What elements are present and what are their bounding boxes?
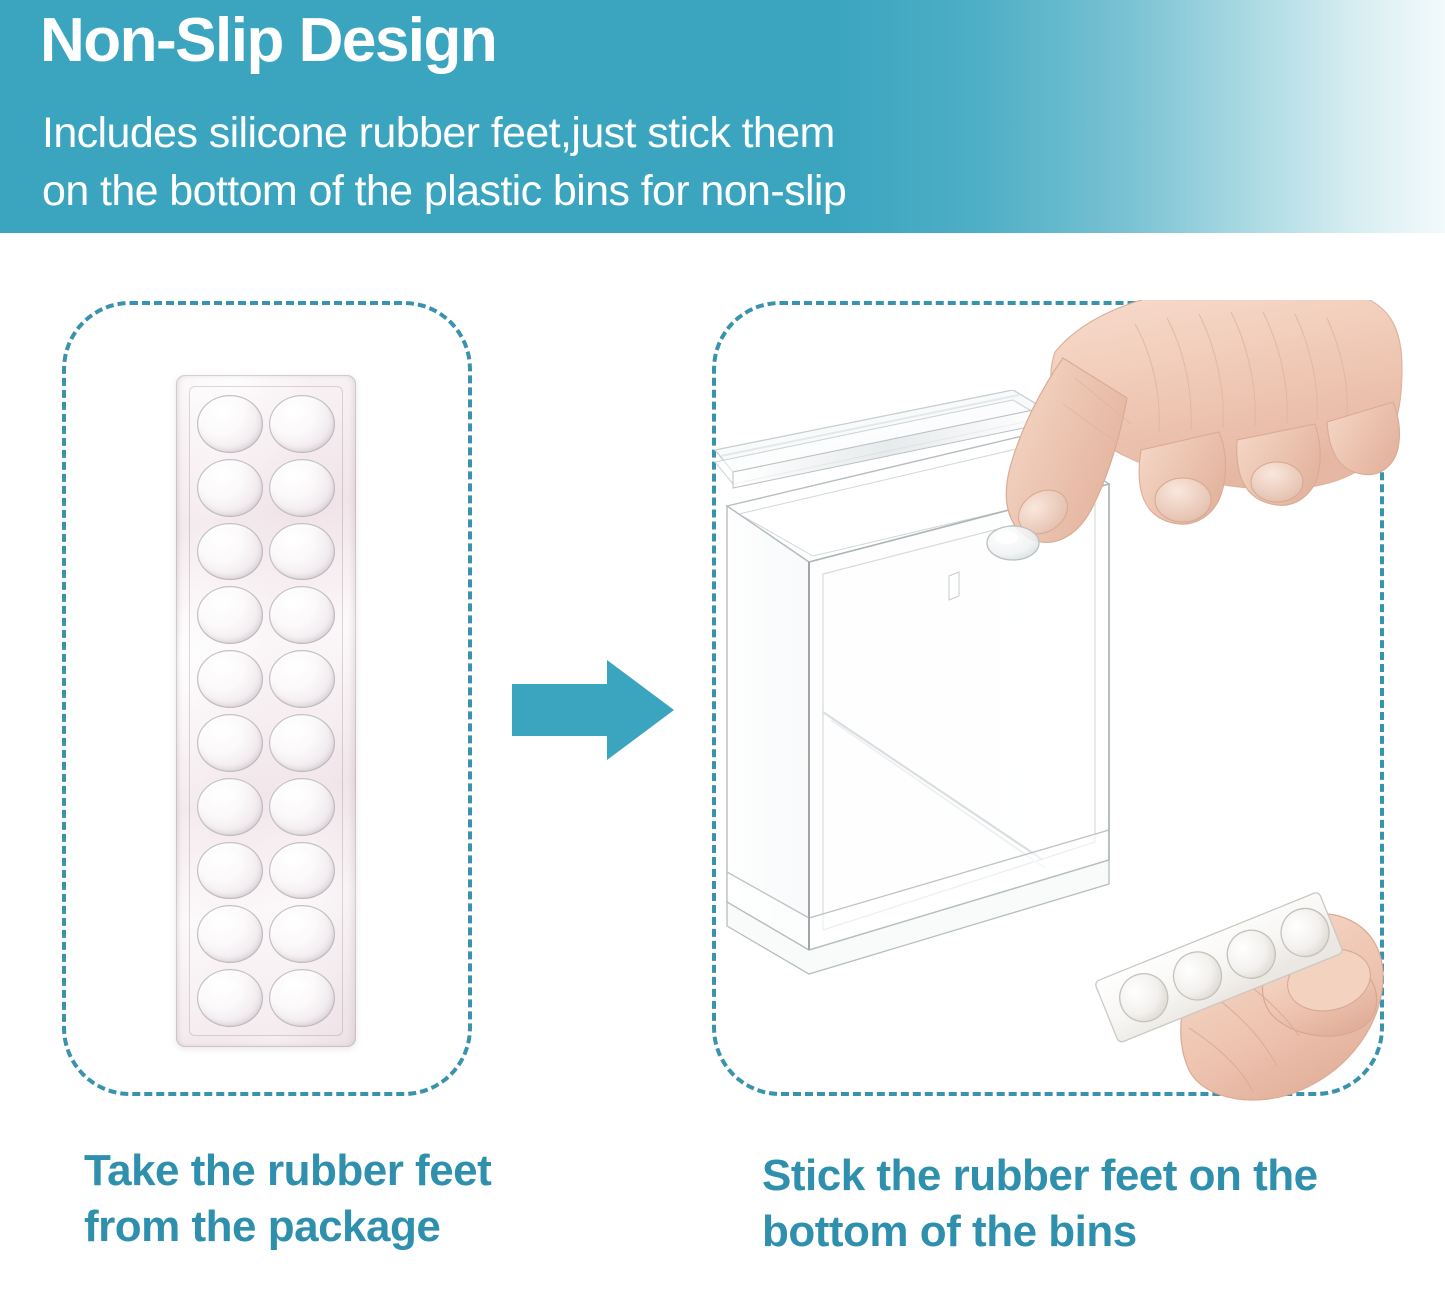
- rubber-foot-dome: [269, 842, 335, 900]
- rubber-foot-dome: [269, 395, 335, 453]
- rubber-foot-dome: [197, 969, 263, 1027]
- rubber-foot-dome: [197, 395, 263, 453]
- rubber-feet-blister-strip: [176, 375, 356, 1047]
- header-subtitle: Includes silicone rubber feet,just stick…: [42, 104, 846, 220]
- page-title: Non-Slip Design: [40, 8, 496, 73]
- header-banner: Non-Slip Design Includes silicone rubber…: [0, 0, 1445, 233]
- rubber-foot-dome: [269, 459, 335, 517]
- rubber-foot-dome: [269, 714, 335, 772]
- rubber-foot-dome: [269, 523, 335, 581]
- rubber-foot-dome: [197, 459, 263, 517]
- rubber-foot-dome: [197, 650, 263, 708]
- rubber-foot-dome: [269, 650, 335, 708]
- header-subtitle-line-1: Includes silicone rubber feet,just stick…: [42, 104, 846, 162]
- hand-holding-feet-strip: [1085, 840, 1405, 1102]
- rubber-foot-dome: [197, 778, 263, 836]
- caption-right: Stick the rubber feet on the bottom of t…: [762, 1148, 1402, 1261]
- header-subtitle-line-2: on the bottom of the plastic bins for no…: [42, 162, 846, 220]
- rubber-foot-dome: [269, 969, 335, 1027]
- rubber-feet-grid: [193, 391, 339, 1031]
- rubber-foot-dome: [269, 905, 335, 963]
- hand-pressing-foot: [985, 300, 1405, 620]
- rubber-foot-dome: [197, 714, 263, 772]
- rubber-foot-dome: [197, 905, 263, 963]
- right-arrow-icon: [512, 655, 674, 765]
- rubber-foot-being-applied: [987, 526, 1039, 560]
- rubber-foot-dome: [197, 842, 263, 900]
- rubber-foot-dome: [197, 586, 263, 644]
- rubber-foot-dome: [269, 586, 335, 644]
- rubber-foot-dome: [269, 778, 335, 836]
- rubber-foot-dome: [197, 523, 263, 581]
- caption-left: Take the rubber feet from the package: [84, 1143, 514, 1256]
